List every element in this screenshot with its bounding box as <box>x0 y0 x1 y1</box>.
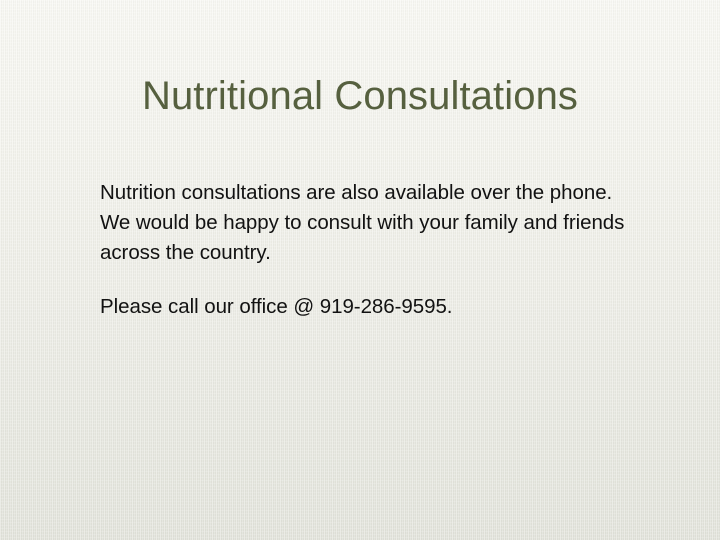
body-paragraph: Please call our office @ 919-286-9595. <box>100 292 640 322</box>
body-paragraph: Nutrition consultations are also availab… <box>100 178 640 268</box>
presentation-slide: Nutritional Consultations Nutrition cons… <box>0 0 720 540</box>
slide-body: Nutrition consultations are also availab… <box>100 178 640 322</box>
slide-title: Nutritional Consultations <box>0 72 720 120</box>
